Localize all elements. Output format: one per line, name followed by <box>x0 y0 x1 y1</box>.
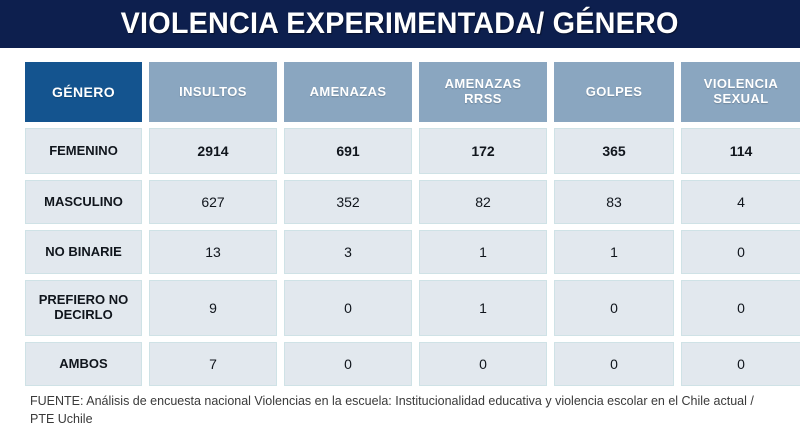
cell-femenino-amenazas-rrss: 172 <box>419 128 547 174</box>
column-header-amenazas: AMENAZAS <box>284 62 412 122</box>
column-header-insultos-label: INSULTOS <box>179 85 247 100</box>
source-footnote-line1: FUENTE: Análisis de encuesta nacional Vi… <box>30 394 710 408</box>
cell-femenino-insultos: 2914 <box>149 128 277 174</box>
column-header-violencia-sexual-label: VIOLENCIA SEXUAL <box>704 77 778 107</box>
table-row: NO BINARIE 13 3 1 1 0 <box>25 230 780 274</box>
row-label-ambos: AMBOS <box>25 342 142 386</box>
column-header-insultos: INSULTOS <box>149 62 277 122</box>
prefiero-line2: DECIRLO <box>54 307 113 322</box>
prefiero-line1: PREFIERO NO <box>39 292 129 307</box>
column-header-amenazas-rrss: AMENAZAS RRSS <box>419 62 547 122</box>
cell-prefiero-no-decirlo-golpes: 0 <box>554 280 674 336</box>
cell-ambos-golpes: 0 <box>554 342 674 386</box>
cell-no-binarie-golpes: 1 <box>554 230 674 274</box>
amenazas-rrss-line1: AMENAZAS <box>445 76 522 91</box>
cell-femenino-golpes: 365 <box>554 128 674 174</box>
source-footnote: FUENTE: Análisis de encuesta nacional Vi… <box>30 392 772 428</box>
cell-ambos-amenazas: 0 <box>284 342 412 386</box>
cell-ambos-insultos: 7 <box>149 342 277 386</box>
row-label-masculino: MASCULINO <box>25 180 142 224</box>
row-label-prefiero-no-decirlo: PREFIERO NO DECIRLO <box>25 280 142 336</box>
amenazas-rrss-line2: RRSS <box>464 91 502 106</box>
row-label-femenino: FEMENINO <box>25 128 142 174</box>
column-header-amenazas-label: AMENAZAS <box>310 85 387 100</box>
cell-femenino-violencia-sexual: 114 <box>681 128 800 174</box>
cell-no-binarie-violencia-sexual: 0 <box>681 230 800 274</box>
page-title: VIOLENCIA EXPERIMENTADA/ GÉNERO <box>121 9 679 39</box>
cell-prefiero-no-decirlo-amenazas: 0 <box>284 280 412 336</box>
cell-masculino-insultos: 627 <box>149 180 277 224</box>
violence-by-gender-table: GÉNERO INSULTOS AMENAZAS AMENAZAS RRSS G… <box>25 62 780 392</box>
row-label-masculino-text: MASCULINO <box>44 195 123 210</box>
violencia-sexual-line2: SEXUAL <box>713 91 768 106</box>
row-label-no-binarie: NO BINARIE <box>25 230 142 274</box>
cell-prefiero-no-decirlo-amenazas-rrss: 1 <box>419 280 547 336</box>
column-header-golpes: GOLPES <box>554 62 674 122</box>
violencia-sexual-line1: VIOLENCIA <box>704 76 778 91</box>
table-row: FEMENINO 2914 691 172 365 114 <box>25 128 780 174</box>
column-header-genero-label: GÉNERO <box>52 84 115 100</box>
title-band: VIOLENCIA EXPERIMENTADA/ GÉNERO <box>0 0 800 48</box>
table-header-row: GÉNERO INSULTOS AMENAZAS AMENAZAS RRSS G… <box>25 62 780 122</box>
cell-no-binarie-amenazas: 3 <box>284 230 412 274</box>
cell-masculino-golpes: 83 <box>554 180 674 224</box>
row-label-femenino-text: FEMENINO <box>49 144 118 159</box>
cell-no-binarie-insultos: 13 <box>149 230 277 274</box>
row-label-no-binarie-text: NO BINARIE <box>45 245 122 260</box>
table-row: AMBOS 7 0 0 0 0 <box>25 342 780 386</box>
cell-ambos-amenazas-rrss: 0 <box>419 342 547 386</box>
cell-femenino-amenazas: 691 <box>284 128 412 174</box>
cell-prefiero-no-decirlo-insultos: 9 <box>149 280 277 336</box>
column-header-amenazas-rrss-label: AMENAZAS RRSS <box>445 77 522 107</box>
row-label-ambos-text: AMBOS <box>59 357 107 372</box>
cell-masculino-violencia-sexual: 4 <box>681 180 800 224</box>
table-row: MASCULINO 627 352 82 83 4 <box>25 180 780 224</box>
cell-prefiero-no-decirlo-violencia-sexual: 0 <box>681 280 800 336</box>
cell-masculino-amenazas-rrss: 82 <box>419 180 547 224</box>
column-header-golpes-label: GOLPES <box>586 85 643 100</box>
cell-masculino-amenazas: 352 <box>284 180 412 224</box>
column-header-violencia-sexual: VIOLENCIA SEXUAL <box>681 62 800 122</box>
column-header-genero: GÉNERO <box>25 62 142 122</box>
cell-no-binarie-amenazas-rrss: 1 <box>419 230 547 274</box>
table-row: PREFIERO NO DECIRLO 9 0 1 0 0 <box>25 280 780 336</box>
row-label-prefiero-no-decirlo-text: PREFIERO NO DECIRLO <box>39 293 129 323</box>
cell-ambos-violencia-sexual: 0 <box>681 342 800 386</box>
